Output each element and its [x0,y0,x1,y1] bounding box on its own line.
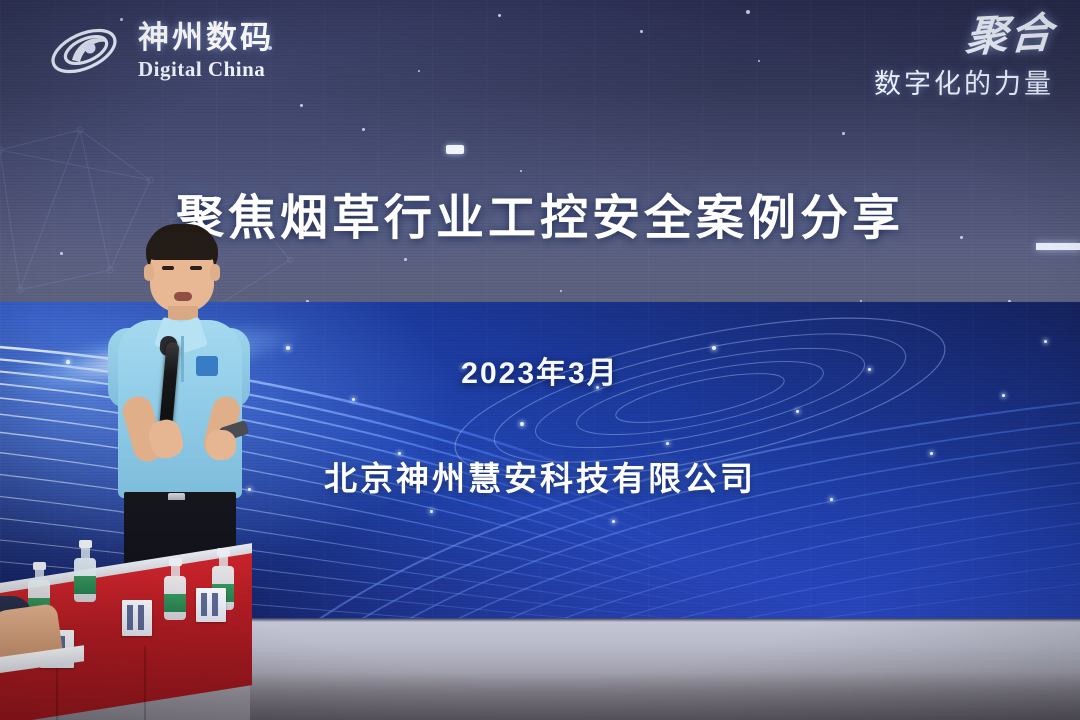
brand-logo: 神州数码 Digital China [44,20,274,82]
bottle-label [74,576,96,594]
brand-name-en: Digital China [138,59,274,80]
tablecloth-fold [144,646,146,720]
stage-floor-shadow [250,672,1080,720]
placard-text-block [127,605,133,630]
placard-text-block [201,593,207,616]
speaker-ear-left [144,264,154,281]
bottle-neck [219,556,228,566]
speaker-mouth [174,292,192,301]
placard-text-block [138,605,144,630]
bottle-neck [35,570,44,580]
event-slogan: 聚合 数字化的力量 [874,16,1054,101]
bottle-cap [33,562,46,570]
decorative-chip [446,145,464,154]
speaker-fringe [146,232,218,260]
name-placard [122,600,152,636]
speaker-eye-right [190,266,202,270]
speaker-shirt-placket [181,336,184,382]
bottle-neck [81,548,90,558]
foreground-attendee [0,596,72,720]
swirl-logo-icon [44,20,124,82]
name-placard [196,588,226,622]
brand-name-cn: 神州数码 [138,22,274,53]
conference-photo: 神州数码 Digital China 聚合 数字化的力量 聚焦烟草行业工控安全案… [0,0,1080,720]
speaker-shirt-emblem-icon [196,356,218,376]
water-bottle [164,558,186,620]
slogan-headline: 聚合 [964,14,1055,56]
water-bottle [74,540,96,602]
bottle-cap [79,540,92,548]
speaker-ear-right [210,264,220,281]
slogan-subline: 数字化的力量 [874,62,1054,101]
speaker-eye-left [162,266,174,270]
placard-text-block [212,593,218,616]
speaker-hand-right [206,430,236,460]
bottle-neck [171,566,180,576]
bottle-cap [169,558,182,566]
bottle-label [164,594,186,612]
bottle-cap [217,548,230,556]
